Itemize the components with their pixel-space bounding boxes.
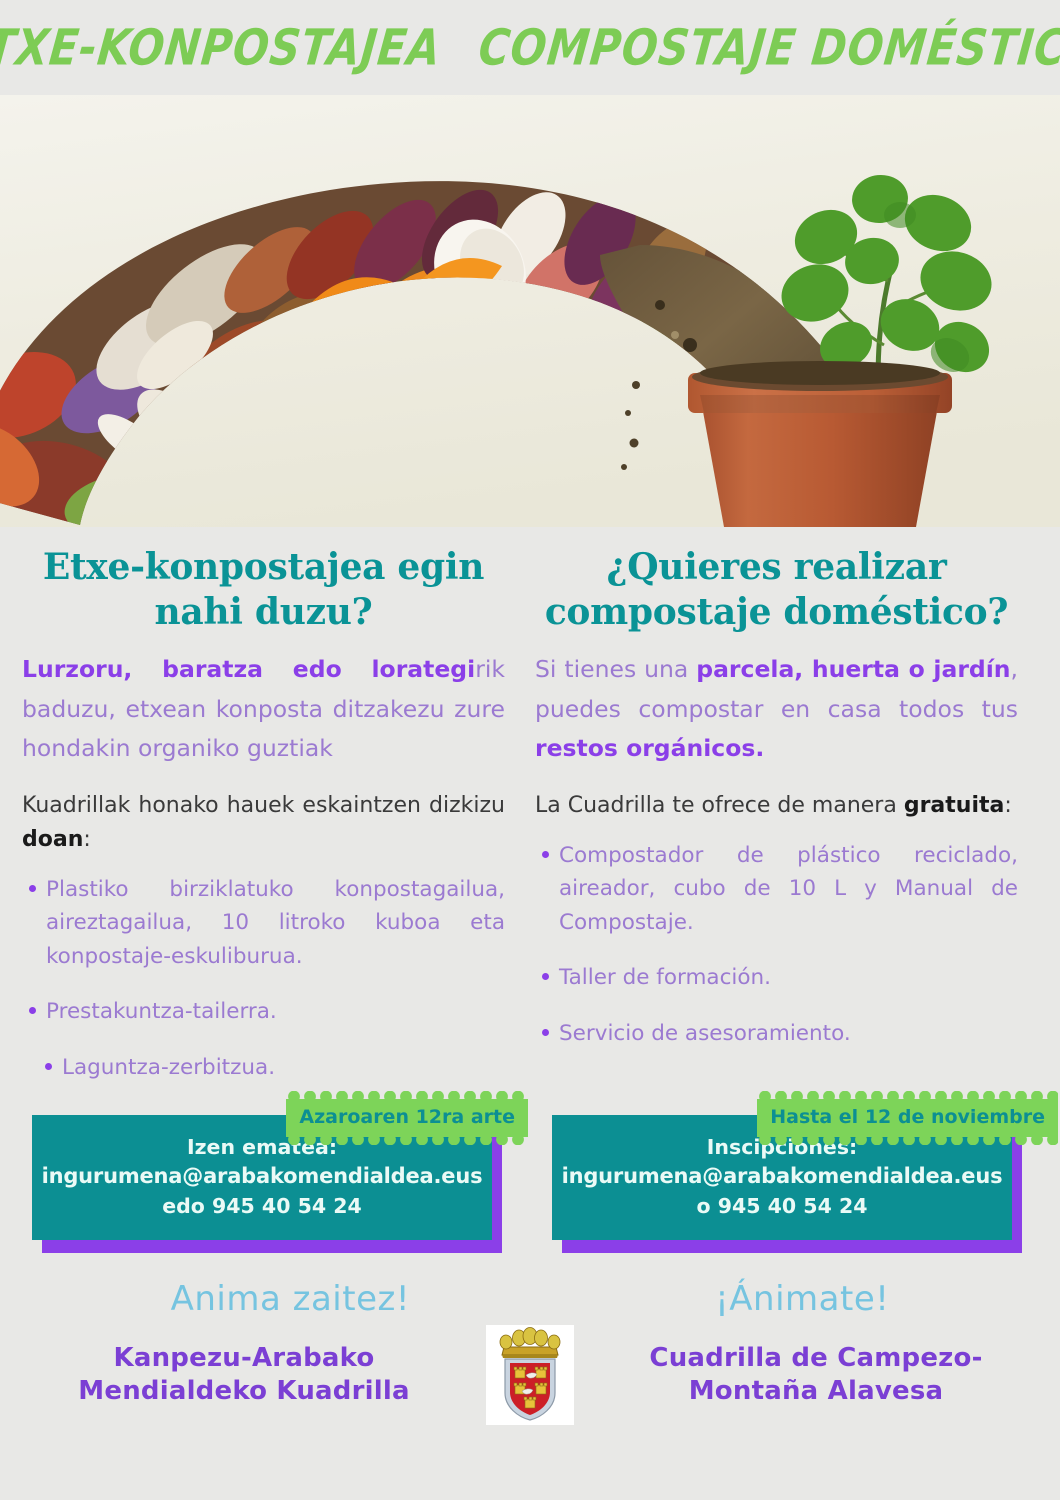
offer-intro-basque: Kuadrillak honako hauek eskaintzen dizki… [22,789,505,857]
deadline-badge-basque: Azaroaren 12ra arte [286,1099,528,1137]
list-item: Compostador de plástico reciclado, airea… [535,839,1018,940]
poster-title-bar: ETXE-KONPOSTAJEA COMPOSTAJE DOMÉSTICO [0,0,1060,95]
offer-text-2-basque: : [83,827,90,852]
list-item: Laguntza-zerbitzua. [22,1051,505,1085]
contact-phone-basque[interactable]: edo 945 40 54 24 [162,1192,362,1221]
column-basque: Etxe-konpostajea egin nahi duzu? Lurzoru… [22,545,505,1085]
lead-bold-basque: Lurzoru, baratza edo lorategi [22,655,475,683]
heading-basque: Etxe-konpostajea egin nahi duzu? [22,545,505,634]
lead-bold-1-spanish: parcela, huerta o jardín [696,655,1010,683]
offer-bold-spanish: gratuita [904,793,1005,818]
column-spanish: ¿Quieres realizar compostaje doméstico? … [535,545,1018,1085]
offer-text-1-basque: Kuadrillak honako hauek eskaintzen dizki… [22,793,505,818]
encouragement-row: Anima zaitez! ¡Ánimate! [18,1279,1042,1319]
scallop-top [286,1091,528,1102]
lead-text-1-spanish: Si tienes una [535,655,696,683]
lead-bold-2-spanish: restos orgánicos. [535,734,764,762]
deadline-badge-spanish: Hasta el 12 de noviembre [757,1099,1058,1137]
title-spanish: COMPOSTAJE DOMÉSTICO [476,19,1060,77]
deadline-badge-label-basque: Azaroaren 12ra arte [299,1106,515,1128]
list-item: Plastiko birziklatuko konpostagailua, ai… [22,873,505,974]
encouragement-basque: Anima zaitez! [171,1279,410,1319]
contact-card-spanish: Inscipciones: ingurumena@arabakomendiald… [540,1099,1040,1261]
scallop-bottom [757,1134,1058,1145]
list-item: Servicio de asesoramiento. [535,1017,1018,1051]
heading-spanish: ¿Quieres realizar compostaje doméstico? [535,545,1018,634]
terracotta-pot [688,361,952,527]
offer-list-spanish: Compostador de plástico reciclado, airea… [535,839,1018,1051]
offer-intro-spanish: La Cuadrilla te ofrece de manera gratuit… [535,789,1018,823]
offer-bold-basque: doan [22,827,83,852]
poster-footer: Anima zaitez! ¡Ánimate! Kanpezu-Arabako … [0,1279,1060,1425]
hero-illustration [0,95,1060,527]
scallop-bottom [286,1134,528,1145]
lead-paragraph-spanish: Si tienes una parcela, huerta o jardín, … [535,650,1018,768]
contact-email-basque[interactable]: ingurumena@arabakomendialdea.eus [42,1162,483,1192]
offer-text-2-spanish: : [1004,793,1011,818]
lead-paragraph-basque: Lurzoru, baratza edo lorategirik baduzu,… [22,650,505,768]
organisation-row: Kanpezu-Arabako Mendialdeko Kuadrilla [18,1325,1042,1425]
list-item: Prestakuntza-tailerra. [22,995,505,1029]
organisation-basque: Kanpezu-Arabako Mendialdeko Kuadrilla [18,1342,470,1407]
offer-text-1-spanish: La Cuadrilla te ofrece de manera [535,793,904,818]
contact-card-basque: Izen ematea: ingurumena@arabakomendialde… [20,1099,520,1261]
encouragement-spanish: ¡Ánimate! [715,1279,889,1319]
contact-email-spanish[interactable]: ingurumena@arabakomendialdea.eus [562,1162,1003,1192]
contact-row: Izen ematea: ingurumena@arabakomendialde… [0,1099,1060,1261]
offer-list-basque: Plastiko birziklatuko konpostagailua, ai… [22,873,505,1085]
contact-phone-spanish[interactable]: o 945 40 54 24 [696,1192,867,1221]
scallop-top [757,1091,1058,1102]
list-item: Taller de formación. [535,961,1018,995]
coat-of-arms-icon [486,1325,574,1425]
deadline-badge-label-spanish: Hasta el 12 de noviembre [770,1106,1045,1128]
title-basque: ETXE-KONPOSTAJEA [0,19,444,77]
hero-image [0,95,1060,527]
content-columns: Etxe-konpostajea egin nahi duzu? Lurzoru… [0,527,1060,1085]
organisation-spanish: Cuadrilla de Campezo-Montaña Alavesa [590,1342,1042,1407]
